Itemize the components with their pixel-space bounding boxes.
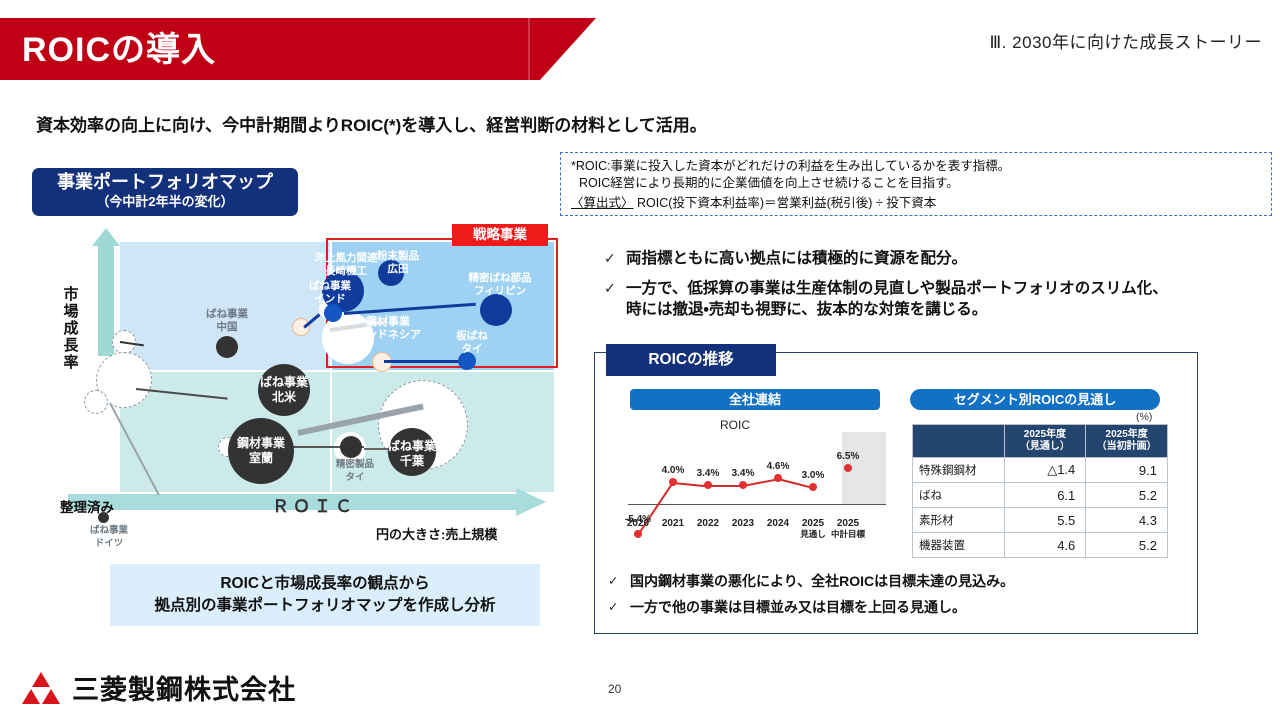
check-icon: ✓ — [608, 598, 630, 617]
bubble-label-line1: 精密ばね部品 — [469, 272, 532, 284]
bubble-label-spring-north-america: ばね事業 北米 — [254, 375, 314, 405]
bubble-label-line2: 中国 — [217, 321, 238, 333]
portfolio-map-badge-title: 事業ポートフォリオマップ — [32, 172, 298, 193]
chart-x-tick-sub: 中計目標 — [830, 529, 866, 540]
bubble-label-steel-indonesia: 鋼材事業 インドネシア — [332, 316, 444, 342]
bubble-label-line2: インド — [314, 293, 346, 305]
bubble-origin-spring-india — [292, 318, 310, 336]
table-cell-plan: 4.3 — [1086, 508, 1168, 533]
chart-x-tick: 2022 — [690, 518, 726, 529]
policy-bullet-2-line1: 一方で、低採算の事業は生産体制の見直しや製品ポートフォリオのスリム化、 — [626, 280, 1168, 297]
company-name: 三菱製鋼株式会社 — [72, 668, 296, 707]
table-cell-segment-name: 素形材 — [913, 508, 1005, 533]
table-header-blank — [913, 425, 1005, 458]
chart-x-tick: 2024 — [760, 518, 796, 529]
note-line-1: *ROIC:事業に投入した資本がどれだけの利益を生み出しているかを表す指標。 — [571, 158, 1261, 175]
roic-bullet-2-text: 一方で他の事業は目標並み又は目標を上回る見通し。 — [630, 598, 966, 617]
bubble-origin-small-b — [84, 390, 108, 414]
chart-value-label: 3.4% — [693, 468, 723, 479]
chart-x-tick-year: 2024 — [767, 518, 789, 529]
note-line-2: ROIC経営により長期的に企業価値を向上させ続けることを目指す。 — [571, 175, 1261, 192]
bubble-label-spring-india: ばね事業 インド — [298, 280, 362, 306]
chart-x-tick: 2025見通し — [795, 518, 831, 540]
table-header-plan-line2: （当初計画） — [1097, 441, 1157, 452]
chart-x-tick-year: 2025 — [837, 518, 859, 529]
roic-trend-panel-title: ROICの推移 — [606, 344, 776, 376]
table-header-row: 2025年度 （見通し） 2025年度 （当初計画） — [913, 425, 1168, 458]
roic-definition-note: *ROIC:事業に投入した資本がどれだけの利益を生み出しているかを表す指標。 R… — [560, 152, 1272, 216]
bubble-label-line1: ばね事業 — [206, 308, 248, 320]
bubble-label-line1: ばね事業 — [388, 439, 436, 453]
chart-x-tick: 2025中計目標 — [830, 518, 866, 540]
table-row: 機器装置4.65.2 — [913, 533, 1168, 558]
portfolio-map: 市場成長率 ＲＯＩＣ 円の大きさ:売上規模 整理済み 戦略事業 洋上風力関連 長… — [76, 242, 554, 510]
bubble-label-line2: 長崎機工 — [325, 265, 367, 277]
table-header-forecast-line2: （見通し） — [1020, 441, 1070, 452]
roic-line-chart: ROIC -5.4%4.0%3.4%3.4%4.6%3.0%6.5% 20202… — [620, 418, 890, 540]
y-axis-label: 市場成長率 — [60, 286, 82, 371]
table-row: 素形材5.54.3 — [913, 508, 1168, 533]
bubble-label-line1: 精密製品 — [336, 459, 374, 470]
chart-x-tick-sub: 見通し — [795, 529, 831, 540]
chart-x-tick: 2021 — [655, 518, 691, 529]
bubble-precision-spring-philippines[interactable] — [480, 294, 512, 326]
strategic-business-tag: 戦略事業 — [452, 224, 548, 246]
formula-body: ROIC(投下資本利益率)＝営業利益(税引後) ÷ 投下資本 — [634, 196, 937, 210]
bubble-label-line1: ばね事業 — [90, 525, 128, 536]
portfolio-map-badge-subtitle: （今中計2年半の変化） — [32, 193, 298, 210]
chart-zero-line — [628, 504, 886, 505]
check-icon: ✓ — [604, 278, 626, 299]
table-cell-forecast: △1.4 — [1004, 458, 1086, 483]
lead-text: 資本効率の向上に向け、今中計期間よりROIC(*)を導入し、経営判断の材料として… — [36, 111, 1036, 136]
policy-bullet-2-body: 一方で、低採算の事業は生産体制の見直しや製品ポートフォリオのスリム化、 時には撤… — [626, 278, 1168, 320]
roic-bullet-2: ✓ 一方で他の事業は目標並み又は目標を上回る見通し。 — [608, 598, 1188, 617]
chart-value-label: 3.4% — [728, 468, 758, 479]
bubble-label-line1: 鋼材事業 — [366, 316, 410, 328]
bubble-label-steel-muroran: 鋼材事業 室蘭 — [226, 436, 296, 466]
three-diamonds-svg — [18, 670, 64, 706]
bubble-label-line1: 板ばね — [456, 330, 488, 342]
map-caption-line2: 拠点別の事業ポートフォリオマップを作成し分析 — [110, 595, 540, 617]
roic-bullet-1: ✓ 国内鋼材事業の悪化により、全社ROICは目標未達の見込み。 — [608, 572, 1188, 591]
pill-consolidated: 全社連結 — [630, 389, 880, 410]
chart-data-point[interactable] — [669, 478, 677, 486]
bubble-label-precision-products-thailand: 精密製品 タイ — [324, 458, 386, 484]
table-cell-segment-name: ばね — [913, 483, 1005, 508]
mitsubishi-three-diamonds-icon — [18, 670, 64, 706]
table-cell-plan: 9.1 — [1086, 458, 1168, 483]
chart-value-label: 4.0% — [658, 465, 688, 476]
bubble-label-line2: タイ — [345, 472, 364, 483]
chart-data-point[interactable] — [774, 474, 782, 482]
roic-bullet-1-text: 国内鋼材事業の悪化により、全社ROICは目標未達の見込み。 — [630, 572, 1014, 591]
formula-label: 〈算出式〉 — [571, 196, 634, 210]
portfolio-map-caption: ROICと市場成長率の観点から 拠点別の事業ポートフォリオマップを作成し分析 — [110, 564, 540, 626]
section-label: Ⅲ. 2030年に向けた成長ストーリー — [990, 28, 1263, 53]
bubble-label-line2: ドイツ — [95, 538, 124, 549]
chart-x-tick: 2020 — [620, 518, 656, 529]
table-cell-forecast: 4.6 — [1004, 533, 1086, 558]
bubble-size-legend: 円の大きさ:売上規模 — [376, 524, 497, 543]
chart-value-label: 6.5% — [833, 451, 863, 462]
chart-x-tick-year: 2023 — [732, 518, 754, 529]
map-caption-line1: ROICと市場成長率の観点から — [110, 573, 540, 595]
arrow-to-leaf-spring-thailand — [384, 360, 462, 363]
policy-bullets: ✓ 両指標ともに高い拠点には積極的に資源を配分。 ✓ 一方で、低採算の事業は生産… — [604, 248, 1280, 329]
table-row: 特殊鋼鋼材△1.49.1 — [913, 458, 1168, 483]
page-title: ROICの導入 — [22, 28, 492, 72]
check-icon: ✓ — [608, 572, 630, 591]
chart-x-tick-year: 2025 — [802, 518, 824, 529]
title-band-tail — [540, 18, 596, 80]
chart-value-label: 4.6% — [763, 461, 793, 472]
x-axis-label: ＲＯＩＣ — [272, 492, 356, 517]
bubble-label-line1: 粉末製品 — [377, 250, 419, 262]
chart-data-point[interactable] — [809, 483, 817, 491]
bubble-label-line2: 北米 — [272, 390, 296, 404]
table-cell-segment-name: 特殊鋼鋼材 — [913, 458, 1005, 483]
segment-roic-table-body: 特殊鋼鋼材△1.49.1ばね6.15.2素形材5.54.3機器装置4.65.2 — [913, 458, 1168, 558]
chart-line-segment — [673, 482, 708, 487]
chart-x-tick-year: 2021 — [662, 518, 684, 529]
chart-x-tick-year: 2022 — [697, 518, 719, 529]
bubble-label-line1: ばね事業 — [260, 375, 308, 389]
note-formula: 〈算出式〉 ROIC(投下資本利益率)＝営業利益(税引後) ÷ 投下資本 — [571, 192, 1261, 212]
bubble-precision-products-thailand[interactable] — [340, 436, 362, 458]
bubble-spring-germany[interactable] — [98, 512, 109, 523]
policy-bullet-1-text: 両指標ともに高い拠点には積極的に資源を配分。 — [626, 248, 967, 269]
table-cell-segment-name: 機器装置 — [913, 533, 1005, 558]
chart-line-segment — [743, 478, 778, 487]
chart-data-point[interactable] — [739, 481, 747, 489]
bubble-label-spring-chiba: ばね事業 千葉 — [382, 439, 442, 469]
table-header-forecast: 2025年度 （見通し） — [1004, 425, 1086, 458]
chart-data-point[interactable] — [844, 464, 852, 472]
bubble-label-line1: ばね事業 — [309, 280, 351, 292]
portfolio-map-badge: 事業ポートフォリオマップ （今中計2年半の変化） — [32, 168, 298, 216]
chart-x-tick-year: 2020 — [627, 518, 649, 529]
check-icon: ✓ — [604, 248, 626, 269]
chart-title: ROIC — [720, 418, 750, 432]
bubble-label-precision-spring-philippines: 精密ばね部品 フィリピン — [458, 272, 542, 298]
bubble-label-line1: 鋼材事業 — [237, 436, 285, 450]
chart-value-label: 3.0% — [798, 470, 828, 481]
x-axis-arrow-head — [516, 488, 546, 516]
table-header-forecast-line1: 2025年度 — [1024, 429, 1066, 440]
table-cell-forecast: 6.1 — [1004, 483, 1086, 508]
table-header-plan: 2025年度 （当初計画） — [1086, 425, 1168, 458]
chart-data-point[interactable] — [634, 530, 642, 538]
y-axis-arrow-head — [92, 228, 120, 246]
roic-panel-bullets: ✓ 国内鋼材事業の悪化により、全社ROICは目標未達の見込み。 ✓ 一方で他の事… — [608, 572, 1188, 624]
title-band-notch — [528, 18, 530, 80]
table-unit-note: (%) — [1136, 411, 1152, 423]
segment-roic-table: 2025年度 （見通し） 2025年度 （当初計画） 特殊鋼鋼材△1.49.1ば… — [912, 424, 1168, 558]
chart-data-point[interactable] — [704, 481, 712, 489]
table-cell-forecast: 5.5 — [1004, 508, 1086, 533]
bubble-label-line2: フィリピン — [474, 285, 526, 297]
bubble-label-powder-products-hirota: 粉末製品 広田 — [368, 250, 428, 276]
table-cell-plan: 5.2 — [1086, 483, 1168, 508]
policy-bullet-2-line2: 時には撤退・売却も視野に、抜本的な対策を講じる。 — [626, 301, 987, 318]
bubble-label-line2: 広田 — [388, 263, 409, 275]
table-cell-plan: 5.2 — [1086, 533, 1168, 558]
table-header-plan-line1: 2025年度 — [1106, 429, 1148, 440]
chart-line-segment — [708, 485, 743, 487]
bubble-label-line2: インドネシア — [355, 329, 421, 341]
page-number: 20 — [608, 682, 621, 696]
bubble-label-spring-china: ばね事業 中国 — [196, 308, 258, 334]
chart-x-tick: 2023 — [725, 518, 761, 529]
policy-bullet-2: ✓ 一方で、低採算の事業は生産体制の見直しや製品ポートフォリオのスリム化、 時に… — [604, 278, 1280, 320]
segment-roic-table-head: 2025年度 （見通し） 2025年度 （当初計画） — [913, 425, 1168, 458]
bubble-label-spring-germany: ばね事業 ドイツ — [80, 524, 138, 550]
bubble-label-line2: 室蘭 — [249, 451, 273, 465]
bubble-label-line2: 千葉 — [400, 454, 424, 468]
pill-segment-outlook: セグメント別ROICの見通し — [910, 389, 1160, 410]
company-logo: 三菱製鋼株式会社 — [18, 668, 296, 707]
bubble-spring-china[interactable] — [216, 336, 238, 358]
policy-bullet-1: ✓ 両指標ともに高い拠点には積極的に資源を配分。 — [604, 248, 1280, 269]
bubble-label-line2: タイ — [462, 343, 483, 355]
bubble-label-leaf-spring-thailand: 板ばね タイ — [444, 330, 500, 356]
table-row: ばね6.15.2 — [913, 483, 1168, 508]
